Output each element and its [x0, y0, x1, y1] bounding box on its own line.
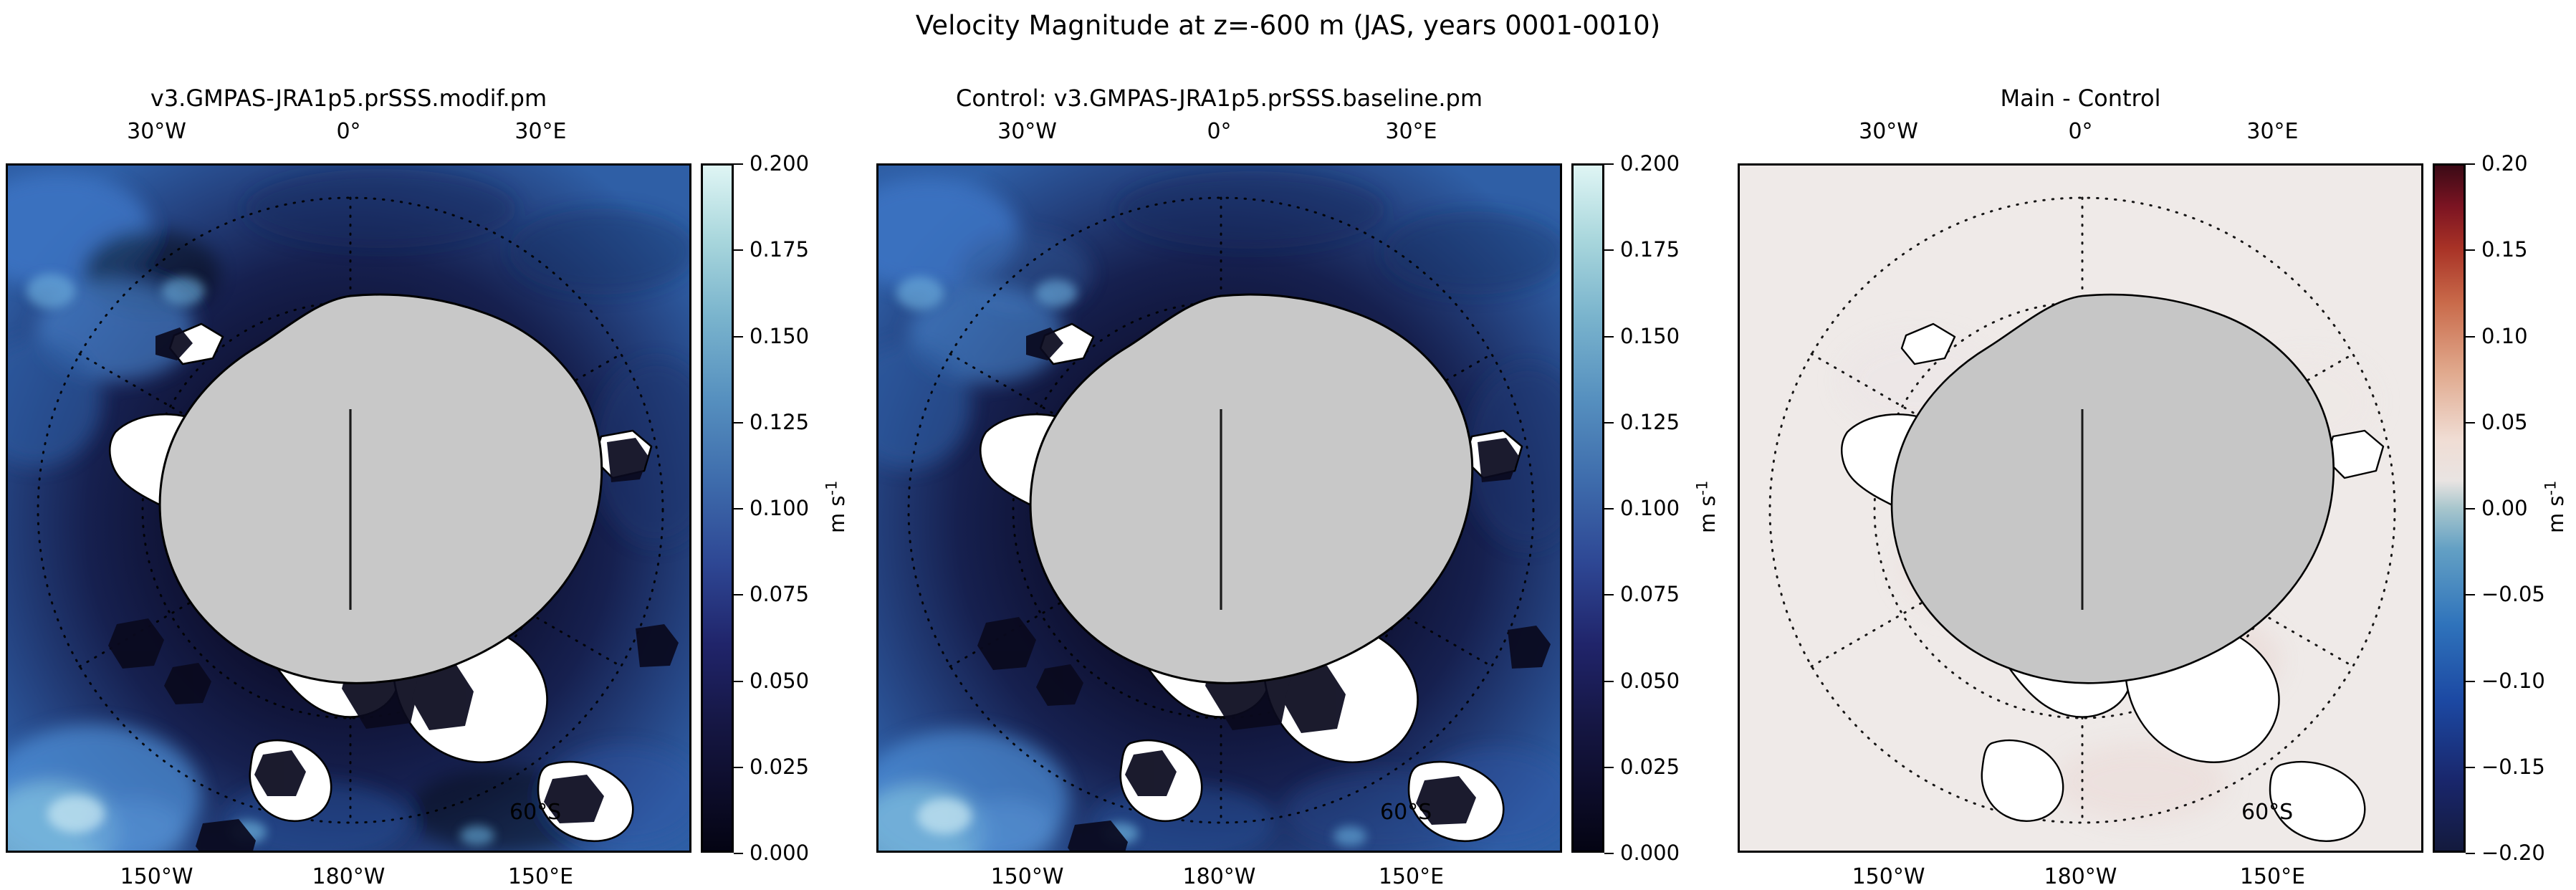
- map-difference[interactable]: 60°S: [1738, 163, 2423, 853]
- lon-label-top-30w-diff: 30°W: [1859, 119, 1918, 144]
- lon-label-top-30w-control: 30°W: [997, 119, 1057, 144]
- map-svg-control: 60°S: [878, 166, 1562, 853]
- lon-label-top-30e-control: 30°E: [1385, 119, 1437, 144]
- lon-label-bot-180w: 180°W: [312, 864, 386, 889]
- figure-suptitle: Velocity Magnitude at z=-600 m (JAS, yea…: [0, 10, 2576, 41]
- panel-title-difference: Main - Control: [1738, 85, 2423, 112]
- map-control[interactable]: 60°S: [876, 163, 1562, 853]
- lon-label-top-30e-diff: 30°E: [2246, 119, 2298, 144]
- colorbar-axis-label-main: m s-1: [823, 481, 849, 533]
- lon-label-bot-150e-diff: 150°E: [2240, 864, 2305, 889]
- map-main[interactable]: 60°S: [6, 163, 691, 853]
- colorbar-strip-difference: [2433, 163, 2466, 853]
- lon-label-bot-150e-control: 150°E: [1379, 864, 1444, 889]
- panel-title-main: v3.GMPAS-JRA1p5.prSSS.modif.pm: [6, 85, 691, 112]
- colorbar-axis-label-control: m s-1: [1693, 481, 1720, 533]
- colorbar-control[interactable]: 0.200 0.175 0.150 0.125 0.100 0.075 0.05…: [1571, 163, 1604, 853]
- colorbar-main[interactable]: 0.200 0.175 0.150 0.125 0.100 0.075 0.05…: [701, 163, 734, 853]
- lon-label-top-0: 0°: [336, 119, 360, 144]
- map-svg-main: 60°S: [8, 166, 691, 853]
- colorbar-strip-main: [701, 163, 734, 853]
- lat-label-60s-control: 60°S: [1380, 800, 1432, 825]
- lon-label-top-0-control: 0°: [1207, 119, 1231, 144]
- lon-label-bot-150w-diff: 150°W: [1852, 864, 1925, 889]
- colorbar-axis-label-difference: m s-1: [2542, 481, 2568, 533]
- lat-label-60s: 60°S: [509, 800, 561, 825]
- lon-label-bot-150e: 150°E: [508, 864, 573, 889]
- lon-label-bot-180w-control: 180°W: [1183, 864, 1256, 889]
- lat-label-60s-difference: 60°S: [2241, 800, 2293, 825]
- lon-label-top-0-diff: 0°: [2068, 119, 2092, 144]
- lon-label-top-30e: 30°E: [514, 119, 566, 144]
- map-svg-difference: 60°S: [1740, 166, 2423, 853]
- lon-label-top-30w: 30°W: [127, 119, 186, 144]
- panel-title-control: Control: v3.GMPAS-JRA1p5.prSSS.baseline.…: [876, 85, 1562, 112]
- lon-label-bot-150w: 150°W: [120, 864, 193, 889]
- lon-label-bot-150w-control: 150°W: [991, 864, 1064, 889]
- colorbar-strip-control: [1571, 163, 1604, 853]
- lon-label-bot-180w-diff: 180°W: [2044, 864, 2117, 889]
- colorbar-difference[interactable]: 0.20 0.15 0.10 0.05 0.00 −0.05 −0.10 −0.…: [2433, 163, 2466, 853]
